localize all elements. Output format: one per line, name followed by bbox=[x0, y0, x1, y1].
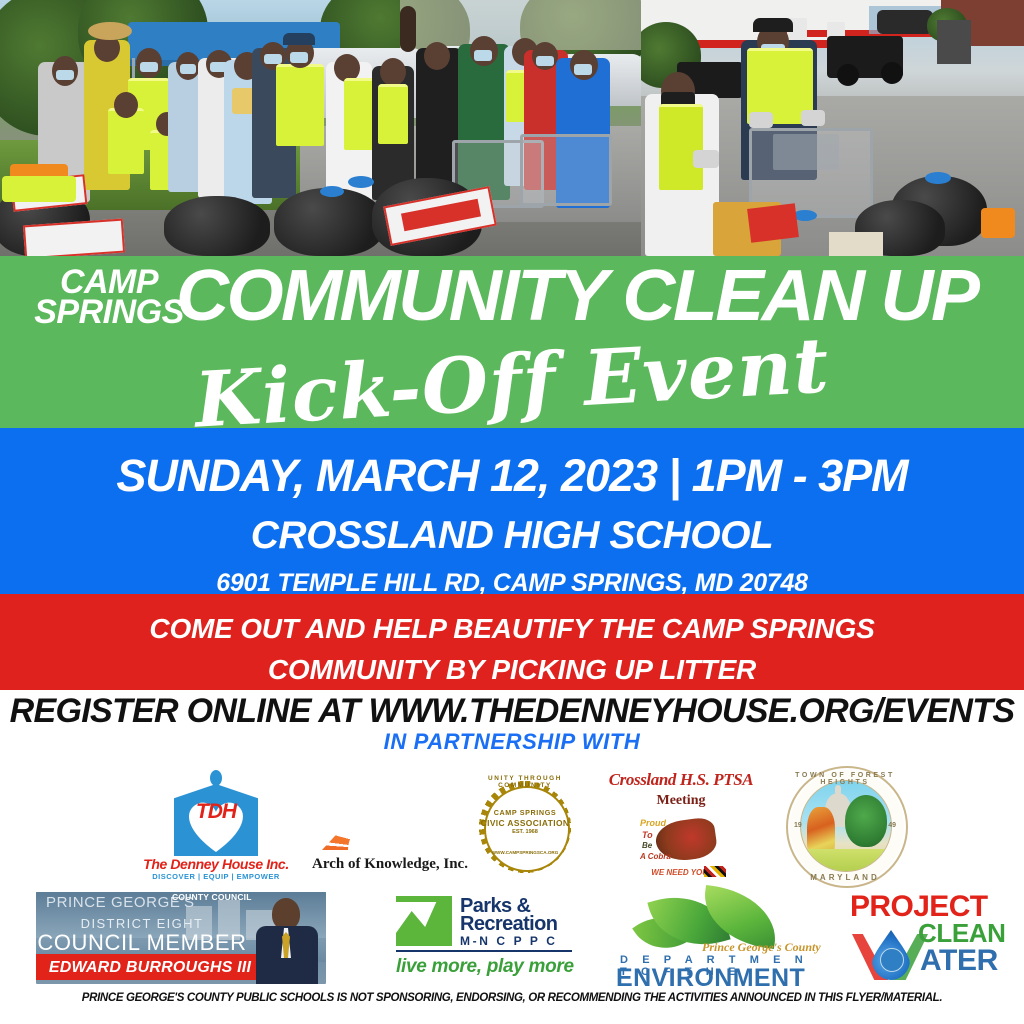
cobra-mascot-icon: Proud To Be A Cobra bbox=[640, 812, 726, 870]
blue-details-band: SUNDAY, MARCH 12, 2023 | 1PM - 3PM CROSS… bbox=[0, 428, 1024, 594]
csca-website: WWW.CAMPSPRINGSCA.ORG bbox=[478, 850, 572, 855]
council-role: COUNCIL MEMBER bbox=[36, 930, 248, 956]
callout-line-1: COME OUT AND HELP BEAUTIFY THE CAMP SPRI… bbox=[0, 594, 1024, 645]
ptsa-art-word-4: A Cobra bbox=[640, 852, 671, 861]
council-district: DISTRICT EIGHT bbox=[36, 916, 248, 931]
parks-tagline: live more, play more bbox=[396, 956, 576, 978]
logo-project-clean-water[interactable]: PROJECT CLEAN ATER bbox=[846, 890, 1016, 990]
ptsa-name: Crossland H.S. PTSA bbox=[606, 770, 756, 790]
register-url[interactable]: REGISTER ONLINE AT WWW.THEDENNEYHOUSE.OR… bbox=[0, 692, 1024, 731]
ptsa-art-word-1: Proud bbox=[640, 818, 666, 828]
ptsa-art-word-3: Be bbox=[642, 841, 652, 850]
denney-house-tagline: DISCOVER | EQUIP | EMPOWER bbox=[140, 872, 292, 881]
parks-agency-abbr: M-N C P P C bbox=[460, 934, 558, 948]
fh-year-left: 19 bbox=[794, 822, 802, 829]
camp-springs-eyebrow: CAMP SPRINGS bbox=[34, 268, 184, 328]
council-member-portrait bbox=[250, 898, 322, 984]
parks-mountain-icon bbox=[396, 896, 452, 946]
logo-arch-of-knowledge[interactable]: Arch of Knowledge, Inc. bbox=[300, 772, 480, 882]
logo-parks-and-recreation[interactable]: Parks & Recreation M-N C P P C live more… bbox=[386, 894, 586, 986]
ptsa-callout: WE NEED YOU! bbox=[606, 868, 756, 877]
csca-established: EST. 1968 bbox=[478, 829, 572, 835]
fh-town-text: TOWN OF FOREST HEIGHTS bbox=[786, 772, 904, 786]
pcw-word-ater: ATER bbox=[920, 944, 998, 978]
eyebrow-line-2: SPRINGS bbox=[34, 298, 184, 328]
logo-department-of-the-environment[interactable]: Prince George's County D E P A R T M E N… bbox=[606, 890, 822, 988]
event-venue: CROSSLAND HIGH SCHOOL bbox=[0, 514, 1024, 558]
volunteers-cart-photo bbox=[641, 0, 1024, 256]
logo-the-denney-house[interactable]: TDH The Denney House Inc. DISCOVER | EQU… bbox=[156, 768, 276, 886]
maryland-flag-icon bbox=[704, 866, 726, 877]
doe-county-name: Prince George's County bbox=[702, 940, 822, 955]
partner-logos-row-1: TDH The Denney House Inc. DISCOVER | EQU… bbox=[0, 762, 1024, 890]
school-disclaimer: PRINCE GEORGE'S COUNTY PUBLIC SCHOOLS IS… bbox=[0, 992, 1024, 1004]
parks-name-line-2: Recreation bbox=[460, 914, 557, 934]
fh-state-text: MARYLAND bbox=[786, 873, 904, 882]
logo-crossland-hs-ptsa[interactable]: Crossland H.S. PTSA Meeting Proud To Be … bbox=[606, 768, 756, 884]
arch-of-knowledge-name: Arch of Knowledge, Inc. bbox=[300, 856, 480, 873]
water-drop-inner-badge bbox=[880, 948, 904, 972]
parks-divider bbox=[396, 950, 572, 952]
forest-heights-ring-text: TOWN OF FOREST HEIGHTS bbox=[786, 766, 904, 884]
csca-name-line-1: CAMP SPRINGS bbox=[478, 808, 572, 817]
denney-house-name: The Denney House Inc. bbox=[140, 856, 292, 872]
partner-logos-row-2: PRINCE GEORGE'S COUNTY COUNCIL DISTRICT … bbox=[0, 890, 1024, 990]
community-clean-up-flyer: CAMP SPRINGS COMMUNITY CLEAN UP Kick-Off… bbox=[0, 0, 1024, 1024]
csca-unity-text: UNITY THROUGH COMMUNITY bbox=[470, 775, 580, 789]
house-heart-icon: TDH bbox=[174, 770, 258, 854]
doe-line-2: ENVIRONMENT bbox=[616, 964, 824, 993]
event-date-time: SUNDAY, MARCH 12, 2023 | 1PM - 3PM bbox=[0, 450, 1024, 502]
ptsa-subtitle: Meeting bbox=[606, 793, 756, 809]
council-body-name: COUNTY COUNCIL bbox=[172, 893, 252, 902]
csca-name-line-2: CIVIC ASSOCIATION bbox=[478, 818, 572, 828]
logo-pg-county-council[interactable]: PRINCE GEORGE'S COUNTY COUNCIL DISTRICT … bbox=[36, 892, 326, 984]
photo-strip bbox=[0, 0, 1024, 256]
council-member-name: EDWARD BURROUGHS III bbox=[36, 959, 264, 977]
tdh-monogram: TDH bbox=[174, 800, 258, 824]
green-headline-band: CAMP SPRINGS COMMUNITY CLEAN UP Kick-Off… bbox=[0, 256, 1024, 428]
volunteer-group-photo bbox=[0, 0, 641, 256]
in-partnership-with-label: IN PARTNERSHIP WITH bbox=[0, 729, 1024, 755]
ptsa-art-word-2: To bbox=[642, 830, 653, 840]
fh-year-right: 49 bbox=[888, 822, 896, 829]
red-callout-band: COME OUT AND HELP BEAUTIFY THE CAMP SPRI… bbox=[0, 594, 1024, 690]
logo-camp-springs-civic-association[interactable]: UNITY THROUGH COMMUNITY CAMP SPRINGS CIV… bbox=[462, 766, 588, 886]
callout-line-2: COMMUNITY BY PICKING UP LITTER bbox=[0, 654, 1024, 686]
logo-town-of-forest-heights[interactable]: TOWN OF FOREST HEIGHTS 19 49 MARYLAND bbox=[782, 764, 908, 888]
